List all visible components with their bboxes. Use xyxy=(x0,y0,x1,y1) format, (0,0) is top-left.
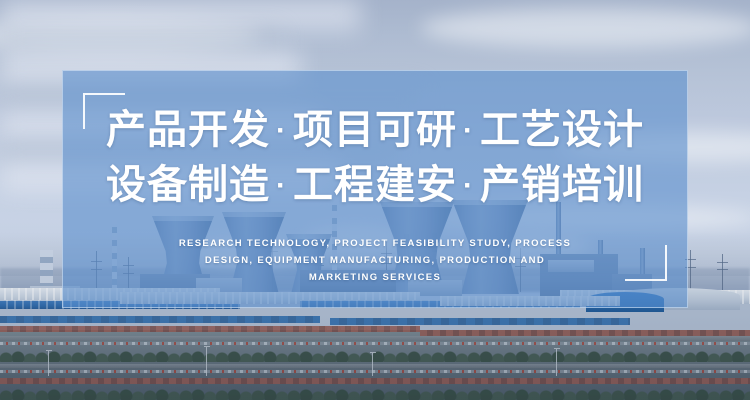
street-lamp xyxy=(206,346,207,376)
subtitle: RESEARCH TECHNOLOGY, PROJECT FEASIBILITY… xyxy=(125,235,625,286)
tree-line xyxy=(0,386,750,400)
street-lamp xyxy=(48,350,49,376)
hero-banner: 产品开发·项目可研·工艺设计 设备制造·工程建安·产销培训 RESEARCH T… xyxy=(0,0,750,400)
access-road xyxy=(0,336,750,341)
headline-item: 产销培训 xyxy=(480,163,644,207)
street-lamp xyxy=(372,352,373,376)
power-pylon xyxy=(690,250,691,290)
blue-roof-row xyxy=(330,318,630,325)
headline-separator: · xyxy=(457,169,480,202)
cloud-shape xyxy=(0,0,360,30)
overlay-panel: 产品开发·项目可研·工艺设计 设备制造·工程建安·产销培训 RESEARCH T… xyxy=(62,70,688,308)
parked-vehicles-row xyxy=(0,370,750,373)
blue-roof-row xyxy=(0,316,320,323)
parked-vehicles-row xyxy=(0,342,750,345)
headline-item: 工艺设计 xyxy=(480,108,644,152)
subtitle-line-2: DESIGN, EQUIPMENT MANUFACTURING, PRODUCT… xyxy=(125,252,625,269)
headline: 产品开发·项目可研·工艺设计 设备制造·工程建安·产销培训 xyxy=(63,103,687,213)
rail-yard xyxy=(0,364,750,368)
tree-line xyxy=(0,348,750,362)
headline-item: 工程建安 xyxy=(293,163,457,207)
subtitle-line-3: MARKETING SERVICES xyxy=(125,269,625,286)
headline-separator: · xyxy=(457,114,480,147)
headline-line-1: 产品开发·项目可研·工艺设计 xyxy=(63,103,687,158)
subtitle-line-1: RESEARCH TECHNOLOGY, PROJECT FEASIBILITY… xyxy=(125,235,625,252)
cloud-shape xyxy=(420,8,750,48)
corner-bracket-bottom-right-icon xyxy=(625,245,667,281)
headline-item: 产品开发 xyxy=(106,108,270,152)
headline-line-2: 设备制造·工程建安·产销培训 xyxy=(63,158,687,213)
red-roof-row xyxy=(0,378,750,384)
headline-separator: · xyxy=(270,114,293,147)
red-roof-row xyxy=(0,326,420,332)
power-pylon xyxy=(722,254,723,290)
cloud-shape xyxy=(0,30,280,52)
headline-separator: · xyxy=(270,169,293,202)
headline-item: 项目可研 xyxy=(293,108,457,152)
headline-item: 设备制造 xyxy=(106,163,270,207)
street-lamp xyxy=(556,348,557,376)
